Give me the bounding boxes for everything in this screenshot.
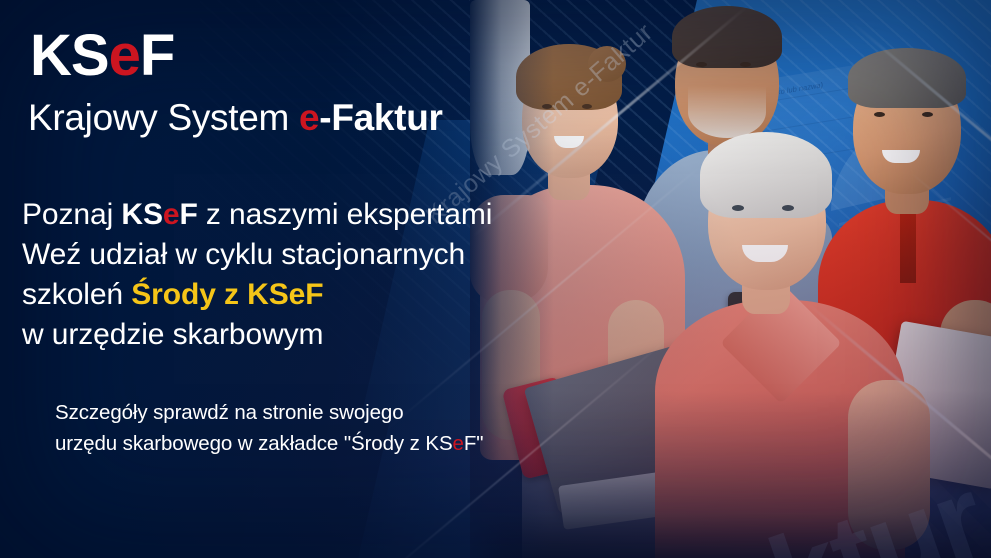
headline-line1-e: e (163, 198, 180, 231)
brand-subtitle: Krajowy System e-Faktur (28, 98, 443, 139)
note-line2-a: urzędu skarbowego w zakładce "Środy z KS (55, 432, 453, 455)
headline-line-4: w urzędzie skarbowym (22, 315, 492, 355)
headline-line1-ks: KS (121, 198, 162, 231)
note-line-2: urzędu skarbowego w zakładce "Środy z KS… (55, 429, 483, 460)
headline-line3-a: szkoleń (22, 278, 131, 311)
headline-line-2: Weź udział w cyklu stacjonarnych (22, 235, 492, 275)
headline-line-3: szkoleń Środy z KSeF (22, 275, 492, 315)
subtitle-part-1: Krajowy System (28, 97, 299, 138)
subtitle-part-e: e (299, 97, 319, 138)
note-line2-b: F" (464, 432, 484, 455)
note-line2-e: e (453, 432, 464, 455)
headline-line1-f: F (179, 198, 197, 231)
headline-line1-a: Poznaj (22, 198, 121, 231)
banner-content: KSeF Krajowy System e-Faktur Poznaj KSeF… (0, 0, 991, 558)
headline-block: Poznaj KSeF z naszymi ekspertami Weź udz… (22, 195, 492, 355)
note-line-1: Szczegóły sprawdź na stronie swojego (55, 398, 483, 429)
logo-part-f: F (140, 23, 174, 88)
headline-line-1: Poznaj KSeF z naszymi ekspertami (22, 195, 492, 235)
note-block: Szczegóły sprawdź na stronie swojego urz… (55, 398, 483, 460)
headline-highlight-srody-z-ksef: Środy z KSeF (131, 278, 323, 311)
ksef-promo-banner: (Imię nazwisko lub nazwa) Adres (Adres) … (0, 0, 991, 558)
headline-line1-b: z naszymi ekspertami (198, 198, 493, 231)
subtitle-part-faktur: -Faktur (319, 97, 442, 138)
ksef-logo: KSeF (30, 27, 174, 85)
logo-part-e: e (109, 23, 140, 88)
logo-part-ks: KS (30, 23, 109, 88)
